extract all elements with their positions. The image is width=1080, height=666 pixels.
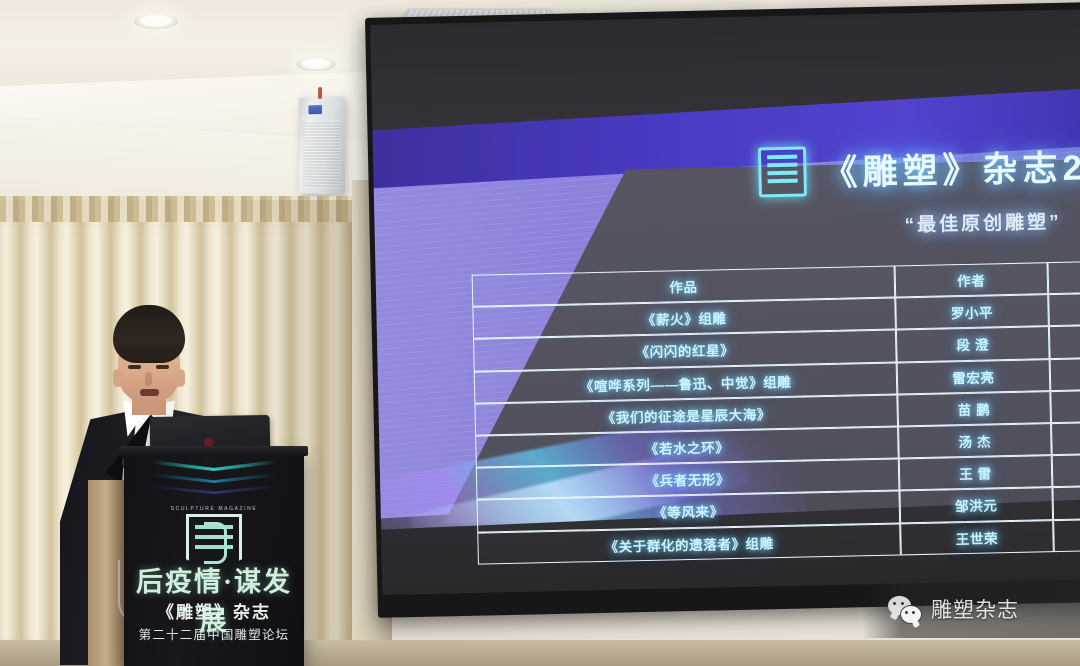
award-table: 作品 作者 《薪火》组雕 罗小平 《闪闪的红星》 段 澄 bbox=[472, 259, 1080, 564]
column-header-extra bbox=[1047, 259, 1080, 294]
column-header-author: 作者 bbox=[895, 262, 1048, 298]
podium-subtitle: 《雕塑》杂志 bbox=[124, 598, 304, 623]
speaker-grille bbox=[303, 121, 341, 189]
cell-extra bbox=[1053, 517, 1080, 552]
sculpture-magazine-mark-icon bbox=[758, 146, 807, 197]
eye-left bbox=[128, 365, 141, 369]
slide-title: 《雕塑》杂志20 bbox=[822, 139, 1080, 196]
podium-top-edge bbox=[120, 446, 308, 456]
cell-extra bbox=[1049, 324, 1080, 359]
hair bbox=[113, 305, 185, 363]
ear-left bbox=[113, 369, 123, 387]
cell-extra bbox=[1050, 388, 1080, 423]
cell-extra bbox=[1051, 453, 1080, 488]
chevron-2 bbox=[152, 473, 276, 483]
downlight-icon bbox=[134, 14, 178, 29]
mouth bbox=[140, 389, 159, 396]
cell-extra bbox=[1049, 356, 1080, 391]
cell-extra bbox=[1048, 292, 1080, 327]
podium: SCULPTURE MAGAZINE 后疫情·谋发展 《雕塑》杂志 第二十二届中… bbox=[124, 452, 304, 666]
slide-subtitle: “最佳原创雕塑” bbox=[904, 207, 1062, 237]
wechat-icon bbox=[888, 596, 922, 622]
slide-title-row: 《雕塑》杂志20 bbox=[758, 139, 1080, 198]
cell-extra bbox=[1051, 420, 1080, 455]
cell-extra bbox=[1052, 485, 1080, 520]
cell-author: 段 澄 bbox=[896, 327, 1049, 363]
nose bbox=[145, 372, 152, 386]
cell-author: 邹洪元 bbox=[900, 487, 1053, 523]
speaker-badge bbox=[308, 105, 322, 114]
watermark-text: 雕塑杂志 bbox=[931, 594, 1019, 624]
wechat-bubble-front bbox=[900, 605, 922, 624]
cell-author: 雷宏亮 bbox=[897, 359, 1050, 395]
photo-scene: 《雕塑》杂志20 “最佳原创雕塑” 作品 作者 《薪火》组雕 罗小平 bbox=[0, 0, 1080, 666]
wall-mounted-speaker bbox=[299, 96, 345, 195]
podium-event-name: 第二十二届中国雕塑论坛 bbox=[124, 624, 304, 643]
eye-right bbox=[156, 365, 169, 369]
cell-author: 王世荣 bbox=[900, 520, 1053, 556]
screen-surface: 《雕塑》杂志20 “最佳原创雕塑” 作品 作者 《薪火》组雕 罗小平 bbox=[370, 9, 1080, 595]
cell-author: 汤 杰 bbox=[898, 423, 1051, 459]
cell-author: 苗 鹏 bbox=[898, 391, 1051, 427]
led-screen: 《雕塑》杂志20 “最佳原创雕塑” 作品 作者 《薪火》组雕 罗小平 bbox=[365, 1, 1080, 637]
screen-bezel: 《雕塑》杂志20 “最佳原创雕塑” 作品 作者 《薪火》组雕 罗小平 bbox=[365, 2, 1080, 618]
emblem-s-curve bbox=[204, 522, 227, 564]
award-table-body: 作品 作者 《薪火》组雕 罗小平 《闪闪的红星》 段 澄 bbox=[472, 259, 1080, 564]
podium-chevron-graphic bbox=[152, 458, 276, 500]
chevron-3 bbox=[152, 485, 276, 494]
cell-author: 王 雷 bbox=[899, 455, 1052, 491]
speaker-mount bbox=[318, 87, 322, 99]
ear-right bbox=[175, 369, 185, 387]
downlight-icon bbox=[296, 57, 336, 71]
watermark: 雕塑杂志 bbox=[888, 594, 1019, 624]
cell-author: 罗小平 bbox=[895, 294, 1048, 330]
chevron-1 bbox=[152, 460, 276, 471]
